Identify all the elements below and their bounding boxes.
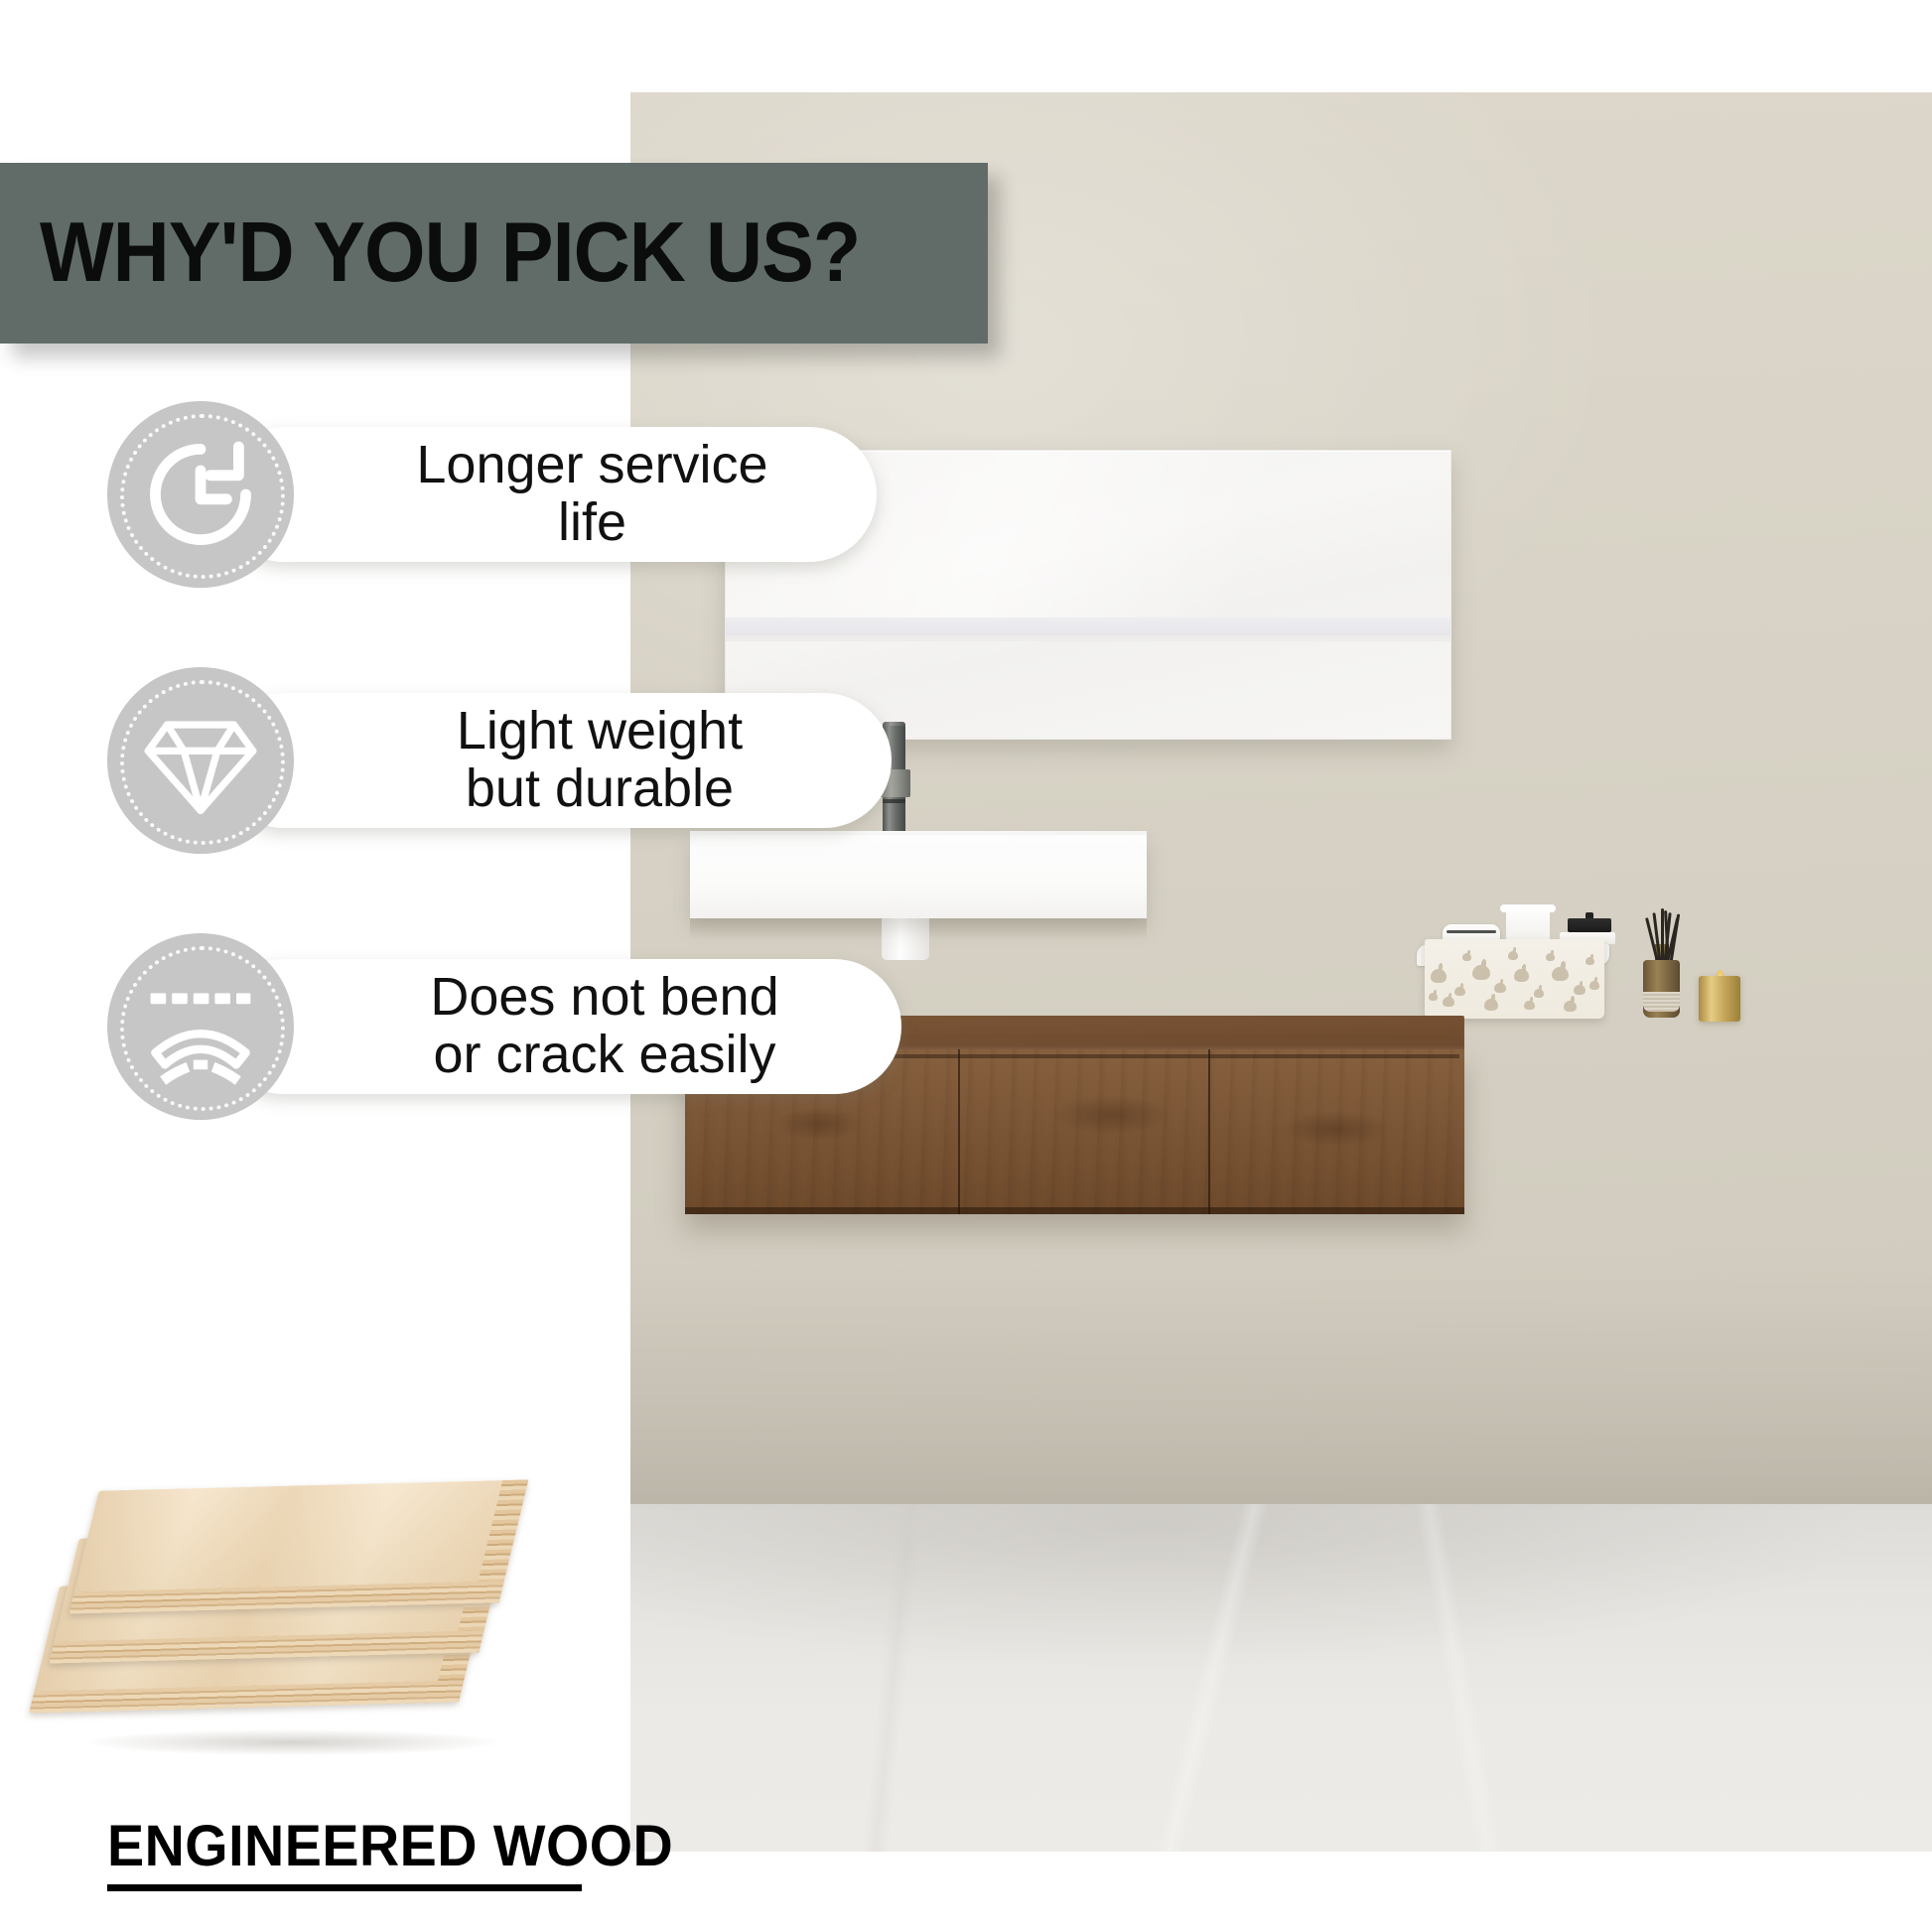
bunny-motif xyxy=(1431,969,1447,983)
wood-knot xyxy=(774,1107,864,1141)
bunny-motif xyxy=(1508,951,1518,960)
diamond-gem-icon xyxy=(141,701,260,820)
page-title: WHY'D YOU PICK US? xyxy=(40,163,860,344)
feature-label: Does not bend or crack easily xyxy=(311,969,806,1084)
plywood-drop-shadow xyxy=(84,1729,501,1755)
wood-knot xyxy=(1281,1111,1390,1147)
feature-label-line-2: or crack easily xyxy=(433,1025,775,1084)
feature-label: Light weight but durable xyxy=(338,703,770,818)
header-banner: WHY'D YOU PICK US? xyxy=(0,163,988,344)
feature-badge xyxy=(107,667,294,854)
floor-surface xyxy=(630,1504,1932,1852)
bunny-motif xyxy=(1546,953,1555,961)
mirror-reflection-band-lower xyxy=(726,635,1450,641)
feature-label: Longer service life xyxy=(297,437,795,552)
wall-shadow-gradient xyxy=(630,1264,1932,1504)
feature-pill: Light weight but durable xyxy=(216,693,892,828)
drain-pipe xyxy=(882,916,929,960)
white-vase xyxy=(1506,906,1550,942)
bend-flex-resistance-icon xyxy=(141,967,260,1086)
bunny-motif xyxy=(1534,989,1544,998)
bunny-motif xyxy=(1472,965,1490,980)
bunny-motif xyxy=(1552,967,1569,981)
plywood-sheet-top xyxy=(69,1479,529,1613)
clock-rotate-history-icon xyxy=(141,435,260,554)
vanity-bottom-reveal xyxy=(685,1207,1464,1214)
feature-pill: Does not bend or crack easily xyxy=(216,959,901,1094)
infographic-canvas: WHY'D YOU PICK US? Longer service life L… xyxy=(0,0,1932,1932)
feature-label-line-1: Longer service xyxy=(416,435,767,494)
mirror-reflection-band xyxy=(726,618,1450,635)
feature-label-line-2: but durable xyxy=(466,759,734,818)
bunny-motif xyxy=(1494,983,1506,993)
feature-badge xyxy=(107,401,294,588)
wood-knot xyxy=(1052,1095,1172,1135)
plywood-sheet-stack xyxy=(40,1459,596,1757)
bunny-motif xyxy=(1514,969,1529,982)
floor-veining xyxy=(630,1504,1932,1852)
feature-label-line-2: life xyxy=(558,492,626,552)
towel-stripe xyxy=(1447,930,1496,933)
bunny-motif xyxy=(1564,1001,1577,1012)
bunny-motif xyxy=(1574,985,1586,995)
brass-candle-holder xyxy=(1699,976,1740,1022)
vanity-drawer-gap-1 xyxy=(958,1049,960,1214)
vanity-drawer-gap-2 xyxy=(1208,1049,1210,1214)
diffuser-label-band xyxy=(1643,992,1680,1012)
black-lidded-box xyxy=(1568,918,1611,932)
bunny-motif xyxy=(1484,999,1498,1011)
bunny-motif xyxy=(1429,993,1438,1001)
feature-badge xyxy=(107,933,294,1120)
bunny-motif xyxy=(1589,981,1599,990)
feature-label-line-1: Light weight xyxy=(457,701,743,760)
wall-mounted-basin xyxy=(690,835,1147,918)
bunny-motif xyxy=(1524,1001,1535,1010)
feature-pill: Longer service life xyxy=(216,427,877,562)
bunny-pattern-storage-basket xyxy=(1425,939,1604,1019)
material-label-underline xyxy=(107,1884,582,1891)
faucet-seam xyxy=(883,799,905,803)
material-label: ENGINEERED WOOD xyxy=(107,1813,673,1879)
bunny-motif xyxy=(1586,957,1594,965)
bunny-motif xyxy=(1462,953,1471,961)
feature-label-line-1: Does not bend xyxy=(430,967,778,1027)
bunny-motif xyxy=(1443,997,1454,1007)
bunny-motif xyxy=(1454,987,1465,996)
